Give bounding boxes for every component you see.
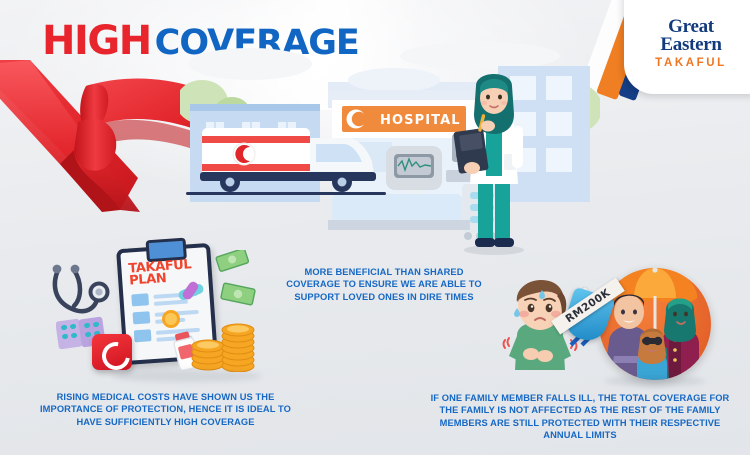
caption-right: IF ONE FAMILY MEMBER FALLS ILL, THE TOTA… <box>420 392 740 441</box>
banknote-icon <box>212 250 268 316</box>
hospital-scene: HOSPITAL <box>180 42 600 257</box>
logo-line-eastern: Eastern <box>632 36 750 54</box>
brand-logo[interactable]: Great Eastern TAKAFUL <box>624 0 750 94</box>
svg-text:HOSPITAL: HOSPITAL <box>380 113 461 128</box>
left-cluster-shadow <box>112 370 262 382</box>
cluster-family-coverage: RM200K <box>495 272 735 387</box>
first-aid-kit-icon <box>92 334 132 370</box>
cluster-takaful-plan: TAKAFUL PLAN <box>52 238 272 383</box>
caption-middle: MORE BENEFICIAL THAN SHARED COVERAGE TO … <box>278 266 490 303</box>
title-word-high: HIGH <box>42 18 151 64</box>
infographic-canvas: HIGHCOVERAGE Great Eastern TAKAFUL <box>0 0 750 455</box>
capsule-icon <box>170 280 218 306</box>
clipboard-thumb-1 <box>131 293 149 306</box>
right-cluster-shadow <box>605 376 705 386</box>
coin-stack-icon <box>188 314 258 372</box>
caption-left: RISING MEDICAL COSTS HAVE SHOWN US THE I… <box>28 391 303 428</box>
clipboard-thumb-2 <box>133 311 151 324</box>
coin-icon-small <box>160 308 182 330</box>
logo-text: Great Eastern TAKAFUL <box>632 18 750 69</box>
clipboard-thumb-3 <box>134 329 152 342</box>
logo-line-takaful: TAKAFUL <box>632 57 750 69</box>
